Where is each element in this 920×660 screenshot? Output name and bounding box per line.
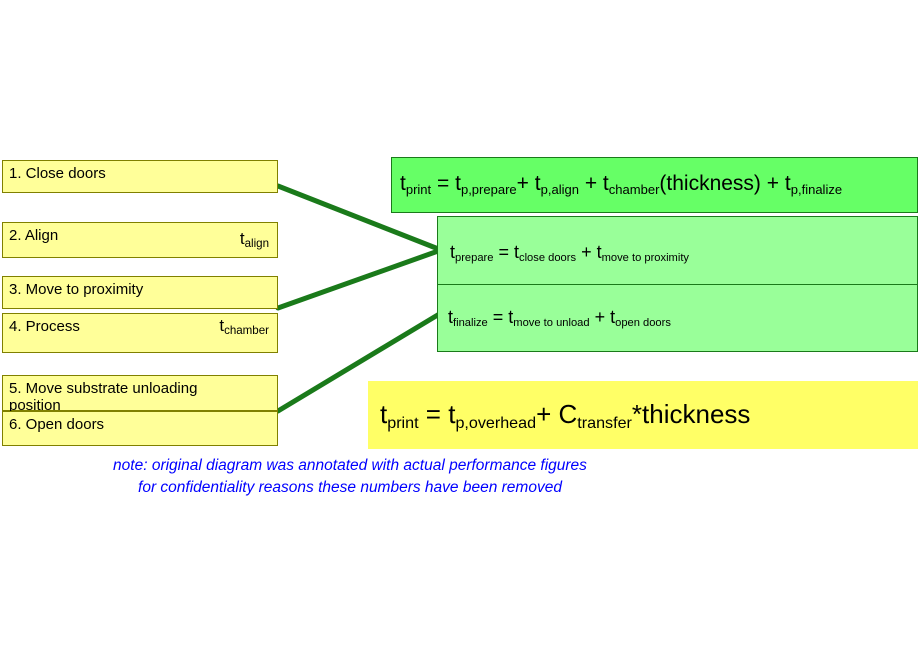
step-box-process[interactable]: 4. Process tchamber [2, 313, 278, 353]
formula-box-print-expanded: tprint = tp,prepare+ tp,align + tchamber… [391, 157, 918, 213]
diagram-canvas: 1. Close doors 2. Align talign 3. Move t… [0, 0, 920, 660]
step-box-close-doors[interactable]: 1. Close doors [2, 160, 278, 193]
formula-finalize: tfinalize = tmove to unload + topen door… [448, 307, 671, 328]
step-symbol-t-chamber: tchamber [219, 316, 269, 336]
step-box-move-substrate-unloading[interactable]: 5. Move substrate unloading position [2, 375, 278, 411]
step-label: 5. Move substrate unloading position [9, 380, 197, 415]
formula-box-finalize: tfinalize = tmove to unload + topen door… [437, 284, 918, 352]
formula-box-print-summary: tprint = tp,overhead+ Ctransfer*thicknes… [368, 381, 918, 449]
step-label: 4. Process [9, 318, 80, 335]
step-label: 1. Close doors [9, 165, 106, 182]
step-box-open-doors[interactable]: 6. Open doors [2, 411, 278, 446]
note-line-1: note: original diagram was annotated wit… [0, 455, 700, 477]
formula-box-prepare: tprepare = tclose doors + tmove to proxi… [437, 216, 918, 284]
step-label: 2. Align [9, 227, 58, 244]
connector-step3-to-prepare [278, 250, 441, 308]
step-label: 3. Move to proximity [9, 281, 143, 298]
formula-print-summary: tprint = tp,overhead+ Ctransfer*thicknes… [380, 399, 750, 430]
step-box-align[interactable]: 2. Align talign [2, 222, 278, 258]
step-symbol-t-align: talign [240, 229, 269, 249]
formula-prepare: tprepare = tclose doors + tmove to proxi… [450, 242, 689, 263]
step-label: 6. Open doors [9, 416, 104, 433]
formula-print-expanded: tprint = tp,prepare+ tp,align + tchamber… [400, 172, 842, 196]
confidentiality-note: note: original diagram was annotated wit… [0, 455, 700, 500]
step-box-move-to-proximity[interactable]: 3. Move to proximity [2, 276, 278, 309]
note-line-2: for confidentiality reasons these number… [0, 477, 700, 499]
